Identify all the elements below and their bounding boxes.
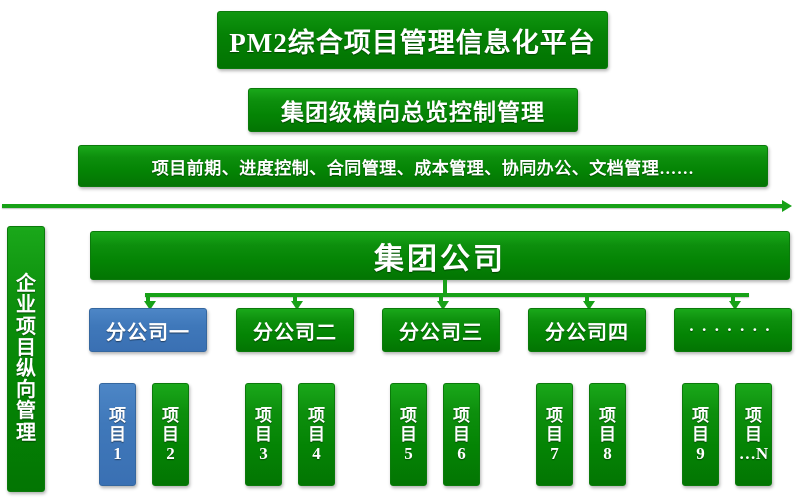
- project-number: 5: [404, 444, 413, 463]
- vertical-label-char: 管: [16, 401, 36, 422]
- arrow-head: [782, 200, 792, 212]
- project-label-char: 项: [400, 406, 417, 425]
- branch-company-node-4[interactable]: 分公司四: [528, 308, 646, 352]
- vertical-label-char: 向: [16, 380, 36, 401]
- ellipsis-label: ·······: [689, 320, 778, 340]
- horizontal-flow-arrow-icon: [2, 200, 792, 212]
- project-node-4[interactable]: 项 目 4: [298, 383, 335, 486]
- project-node-9[interactable]: 项 目 9: [682, 383, 719, 486]
- branch-company-node-more[interactable]: ·······: [674, 308, 792, 352]
- project-number: 1: [113, 444, 122, 463]
- project-label-char: 目: [745, 425, 762, 444]
- connector-bus: [145, 293, 749, 297]
- vertical-label-char: 理: [16, 423, 36, 444]
- diagram-canvas: PM2综合项目管理信息化平台 集团级横向总览控制管理 项目前期、进度控制、合同管…: [0, 0, 802, 500]
- project-label-char: 目: [109, 425, 126, 444]
- project-label-char: 目: [692, 425, 709, 444]
- project-label-char: 项: [109, 406, 126, 425]
- vertical-management-label: 企 业 项 目 纵 向 管 理: [7, 226, 45, 492]
- project-label-char: 项: [255, 406, 272, 425]
- project-node-1[interactable]: 项 目 1: [99, 383, 136, 486]
- project-label-char: 目: [599, 425, 616, 444]
- vertical-label-char: 项: [16, 317, 36, 338]
- project-node-5[interactable]: 项 目 5: [390, 383, 427, 486]
- project-label-char: 项: [308, 406, 325, 425]
- project-label-char: 目: [308, 425, 325, 444]
- project-label-char: 项: [453, 406, 470, 425]
- project-label-char: 项: [162, 406, 179, 425]
- project-label-char: 目: [400, 425, 417, 444]
- project-number: 3: [259, 444, 268, 463]
- modules-list-banner: 项目前期、进度控制、合同管理、成本管理、协同办公、文档管理……: [78, 145, 768, 187]
- project-label-char: 项: [546, 406, 563, 425]
- project-node-2[interactable]: 项 目 2: [152, 383, 189, 486]
- project-node-8[interactable]: 项 目 8: [589, 383, 626, 486]
- project-label-char: 目: [453, 425, 470, 444]
- project-number: 8: [603, 444, 612, 463]
- vertical-label-char: 目: [16, 338, 36, 359]
- project-number: 4: [312, 444, 321, 463]
- project-number: 7: [550, 444, 559, 463]
- project-label-char: 目: [255, 425, 272, 444]
- project-label-char: 项: [599, 406, 616, 425]
- branch-company-node-2[interactable]: 分公司二: [236, 308, 354, 352]
- group-company-node[interactable]: 集团公司: [90, 231, 790, 280]
- project-node-7[interactable]: 项 目 7: [536, 383, 573, 486]
- project-number: 2: [166, 444, 175, 463]
- branch-company-node-3[interactable]: 分公司三: [382, 308, 500, 352]
- group-level-overview-banner: 集团级横向总览控制管理: [248, 88, 578, 132]
- project-number: …N: [739, 444, 768, 463]
- project-node-6[interactable]: 项 目 6: [443, 383, 480, 486]
- project-label-char: 目: [162, 425, 179, 444]
- project-number: 6: [457, 444, 466, 463]
- branch-company-node-1[interactable]: 分公司一: [89, 308, 207, 352]
- vertical-label-char: 纵: [16, 359, 36, 380]
- arrow-shaft: [2, 204, 784, 208]
- platform-title-banner: PM2综合项目管理信息化平台: [217, 11, 608, 69]
- project-node-3[interactable]: 项 目 3: [245, 383, 282, 486]
- project-number: 9: [696, 444, 705, 463]
- project-label-char: 项: [692, 406, 709, 425]
- project-node-n[interactable]: 项 目 …N: [735, 383, 772, 486]
- project-label-char: 项: [745, 406, 762, 425]
- project-label-char: 目: [546, 425, 563, 444]
